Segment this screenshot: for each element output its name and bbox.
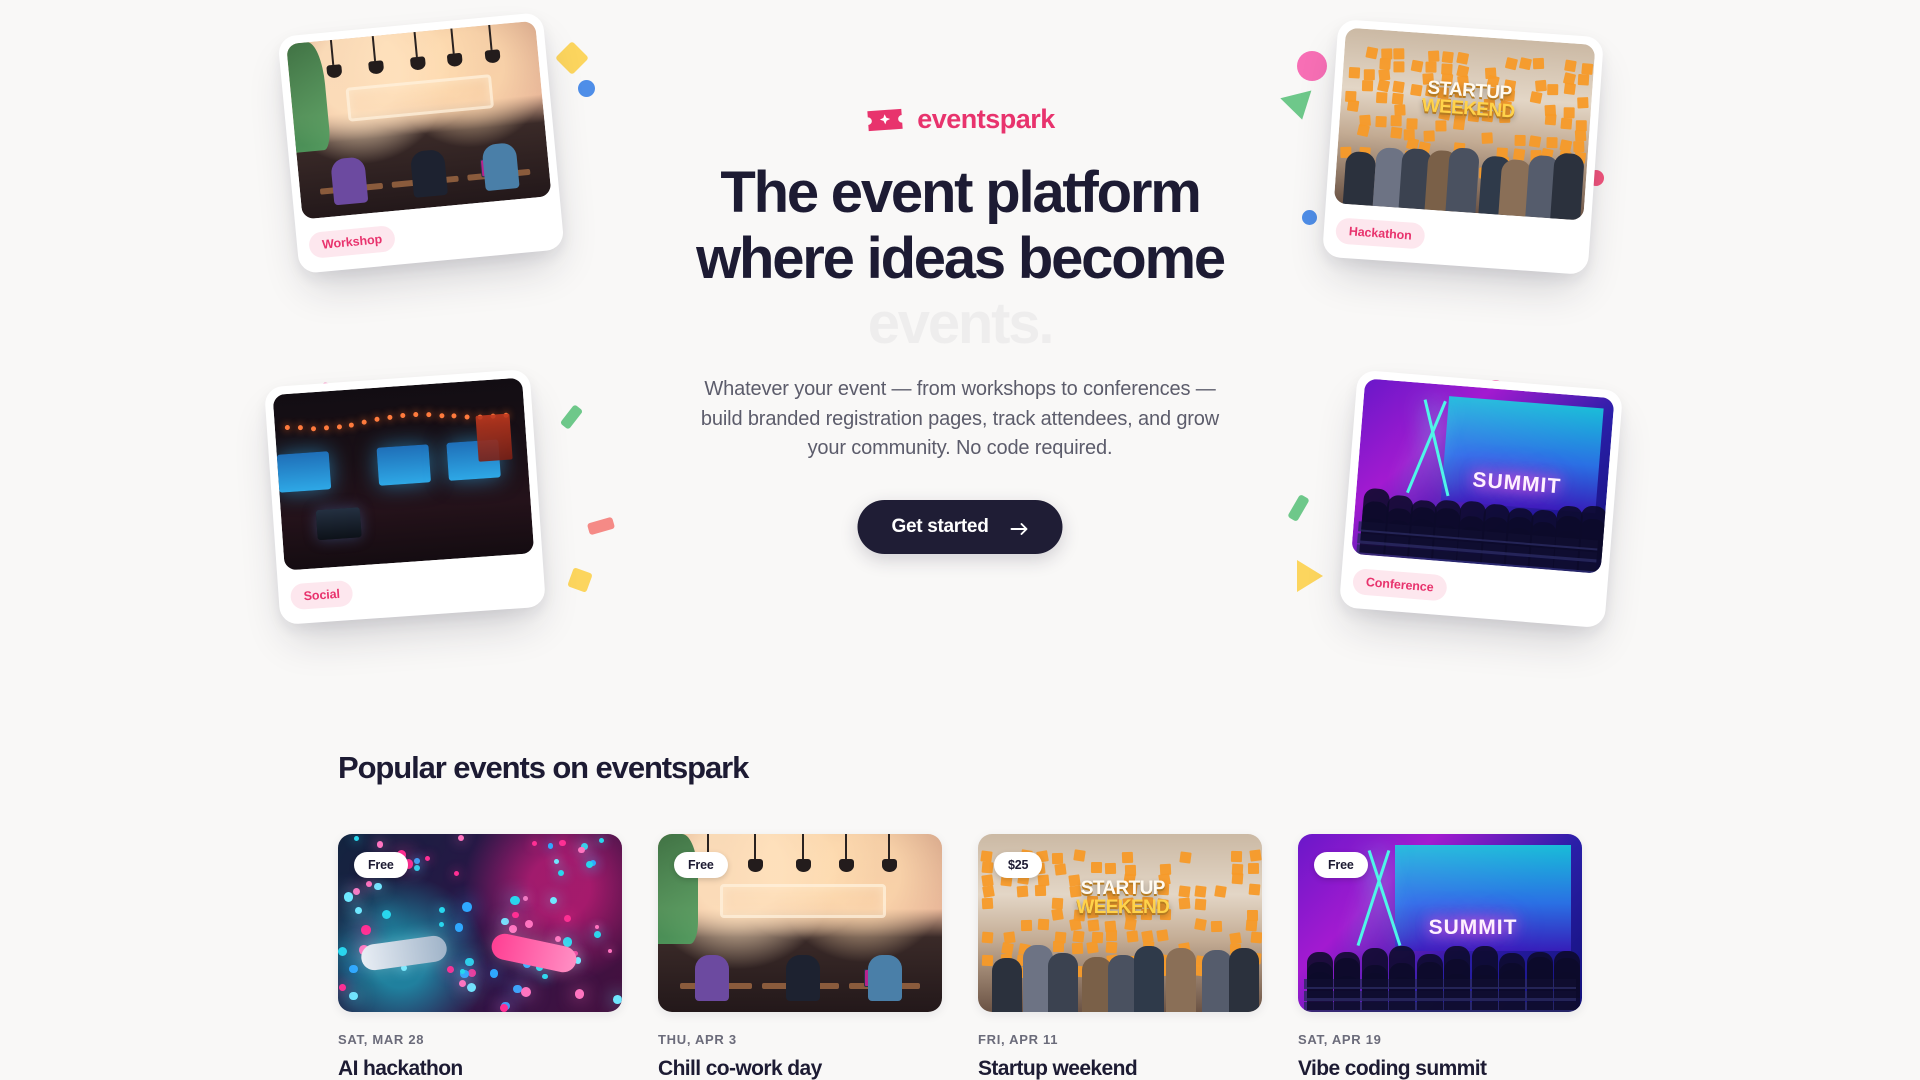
price-badge: $25 — [994, 852, 1042, 878]
headline-line-1: The event platform — [550, 160, 1370, 226]
decor-green-bar-1 — [560, 404, 583, 430]
popular-events-heading: Popular events on eventspark — [338, 750, 1582, 786]
price-badge: Free — [674, 852, 728, 878]
hackathon-image-text: STARTUP WEEKEND — [1405, 78, 1532, 123]
event-card[interactable]: $25 STARTUP WEEKEND FRI, APR 11 Startup … — [978, 834, 1262, 1080]
category-chip-conference: Conference — [1352, 568, 1448, 601]
event-card-date: SAT, APR 19 — [1298, 1032, 1582, 1047]
decor-pink-circle-2 — [1297, 51, 1327, 81]
floating-card-social-image — [273, 378, 535, 571]
brand-name: eventspark — [917, 104, 1055, 135]
decor-yellow-triangle-1 — [1297, 560, 1323, 592]
event-card-date: SAT, MAR 28 — [338, 1032, 622, 1047]
get-started-label: Get started — [891, 516, 988, 538]
landing-page: eventspark The event platform where idea… — [0, 0, 1920, 1080]
decor-yellow-diamond-1 — [555, 41, 589, 75]
event-card-title: Chill co-work day — [658, 1056, 942, 1080]
decor-yellow-bar-2 — [567, 567, 593, 593]
price-badge: Free — [1314, 852, 1368, 878]
decor-green-bar-2 — [1287, 494, 1310, 522]
event-card-image: Free SUMMIT — [1298, 834, 1582, 1012]
floating-card-conference-image: SUMMIT — [1351, 378, 1614, 573]
headline-line-2: where ideas become — [550, 226, 1370, 292]
event-card-date: FRI, APR 11 — [978, 1032, 1262, 1047]
hero-section: eventspark The event platform where idea… — [0, 0, 1920, 740]
hero-cta-wrapper: Get started — [857, 500, 1062, 554]
category-chip-hackathon: Hackathon — [1335, 217, 1426, 249]
event-card[interactable]: Free SUMMIT SAT, APR 19 Vibe coding summ… — [1298, 834, 1582, 1080]
event-card-title: Vibe coding summit — [1298, 1056, 1582, 1080]
popular-events-section: Popular events on eventspark Free SAT, M… — [0, 750, 1920, 1080]
floating-card-social[interactable]: Social — [264, 369, 546, 625]
hackathon-image-text: STARTUP WEEKEND — [1052, 880, 1194, 916]
decor-coral-bar-1 — [587, 517, 615, 536]
event-card-image: Free — [338, 834, 622, 1012]
floating-card-workshop[interactable]: Workshop — [277, 12, 564, 274]
ticket-sparkle-icon — [865, 106, 905, 134]
price-badge: Free — [354, 852, 408, 878]
hero-subhead: Whatever your event — from workshops to … — [700, 375, 1220, 464]
event-card[interactable]: Free THU, APR 3 Chill co-work day — [658, 834, 942, 1080]
event-card-image: $25 STARTUP WEEKEND — [978, 834, 1262, 1012]
hero-headline: The event platform where ideas become ev… — [550, 160, 1370, 357]
category-chip-workshop: Workshop — [308, 225, 396, 259]
floating-card-conference[interactable]: SUMMIT Conference — [1339, 370, 1623, 629]
floating-card-hackathon-image: STARTUP WEEKEND — [1334, 28, 1596, 221]
arrow-right-icon — [1011, 520, 1029, 534]
event-card[interactable]: Free SAT, MAR 28 AI hackathon — [338, 834, 622, 1080]
event-card-title: AI hackathon — [338, 1056, 622, 1080]
floating-card-workshop-image — [286, 21, 551, 220]
headline-line-3: events. — [550, 291, 1370, 357]
get-started-button[interactable]: Get started — [857, 500, 1062, 554]
category-chip-social: Social — [290, 580, 354, 610]
event-card-image: Free — [658, 834, 942, 1012]
floating-card-hackathon[interactable]: STARTUP WEEKEND Hackathon — [1322, 19, 1604, 275]
event-card-title: Startup weekend — [978, 1056, 1262, 1080]
popular-events-grid: Free SAT, MAR 28 AI hackathon Free — [338, 834, 1582, 1080]
decor-blue-circle-1 — [578, 80, 595, 97]
event-card-date: THU, APR 3 — [658, 1032, 942, 1047]
